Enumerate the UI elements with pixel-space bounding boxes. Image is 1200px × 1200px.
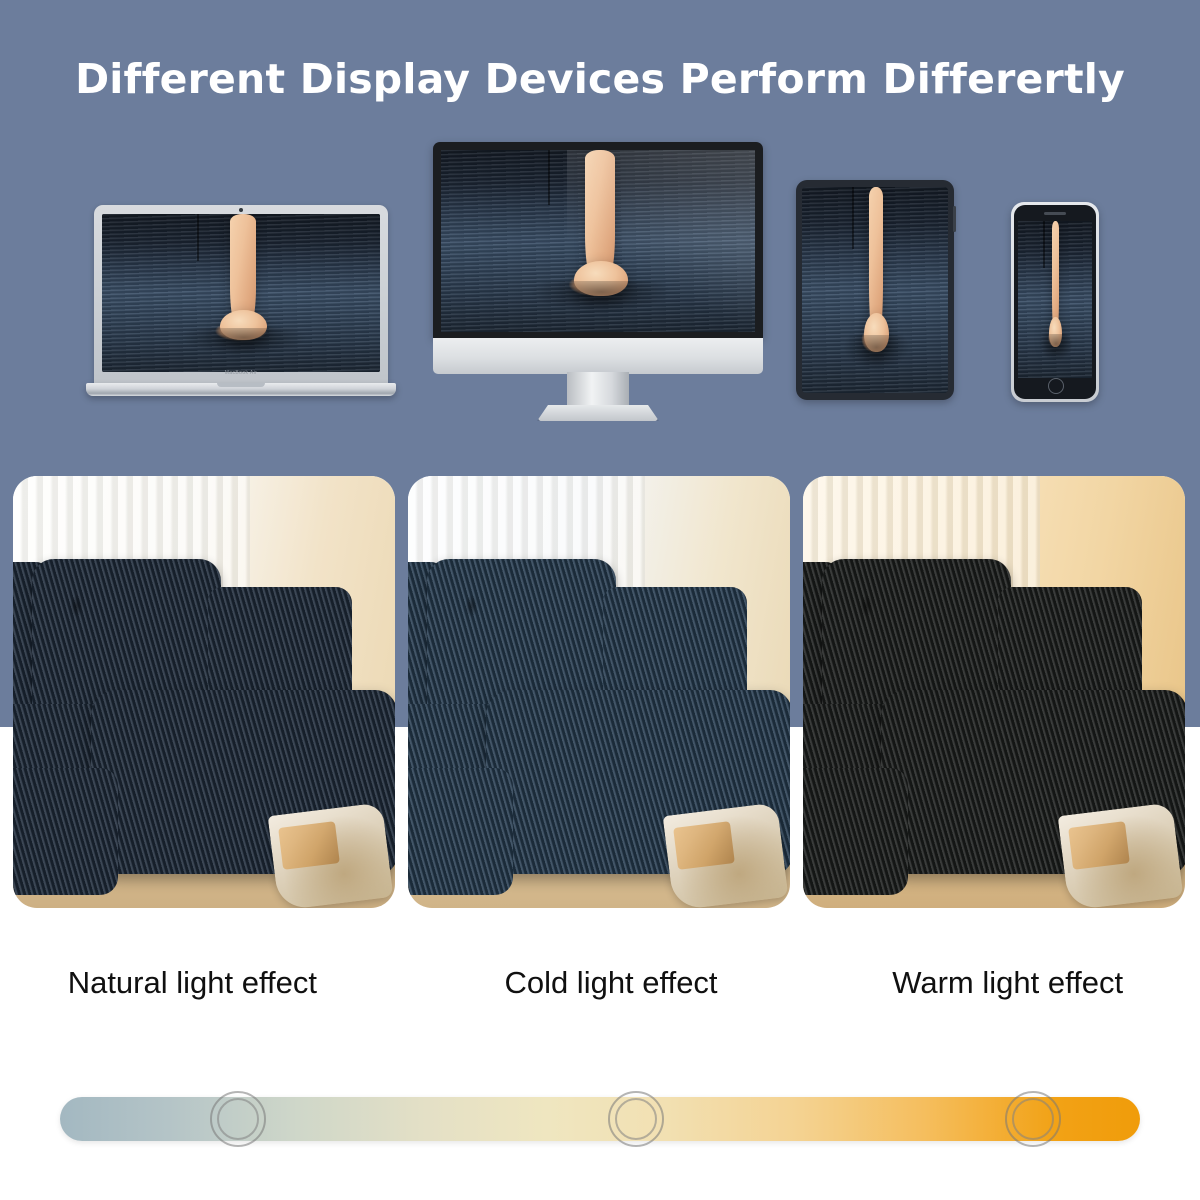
cushion-seam bbox=[197, 214, 199, 261]
device-desktop-monitor bbox=[433, 142, 763, 417]
tablet-body bbox=[796, 180, 954, 400]
comparison-card-warm bbox=[803, 476, 1185, 908]
sofa-tuft bbox=[70, 595, 83, 617]
laptop-notch bbox=[217, 383, 265, 387]
comparison-card-natural bbox=[13, 476, 395, 908]
comparison-card-cold bbox=[408, 476, 790, 908]
sofa-ottoman bbox=[803, 768, 908, 896]
slider-marker-warm[interactable] bbox=[1005, 1091, 1061, 1147]
magazine bbox=[1057, 802, 1182, 908]
product-photo-monitor bbox=[441, 150, 755, 332]
monitor-bezel bbox=[433, 142, 763, 338]
device-laptop: MacBook Air bbox=[86, 205, 396, 405]
color-temperature-slider[interactable] bbox=[60, 1088, 1140, 1150]
phone-frame bbox=[1014, 205, 1096, 399]
cushion-dimple bbox=[843, 335, 910, 370]
phone-body bbox=[1011, 202, 1099, 402]
cushion-seam bbox=[1043, 221, 1045, 268]
laptop-screen bbox=[102, 214, 380, 372]
monitor-stand-foot bbox=[537, 405, 659, 421]
cushion-dimple bbox=[180, 328, 308, 355]
sofa-ottoman bbox=[408, 768, 513, 896]
monitor-chin bbox=[433, 338, 763, 374]
monitor-stand-neck bbox=[567, 372, 629, 408]
laptop-brand-label: MacBook Air bbox=[86, 370, 396, 376]
slider-marker-cool[interactable] bbox=[210, 1091, 266, 1147]
cushion-seam bbox=[852, 187, 854, 249]
cushion-dimple bbox=[1039, 334, 1073, 361]
tablet-screen bbox=[802, 187, 948, 393]
slider-marker-neutral[interactable] bbox=[608, 1091, 664, 1147]
phone-screen bbox=[1018, 221, 1092, 378]
monitor-screen bbox=[441, 150, 755, 332]
laptop-lid bbox=[94, 205, 388, 386]
cushion-seam bbox=[548, 150, 550, 205]
label-warm-light: Warm light effect bbox=[809, 965, 1200, 1035]
sofa-tuft bbox=[860, 595, 873, 617]
device-phone bbox=[1011, 202, 1099, 402]
magazine bbox=[267, 802, 392, 908]
sofa-scene-natural bbox=[13, 476, 395, 908]
laptop-camera-icon bbox=[239, 208, 243, 212]
product-photo-phone bbox=[1018, 221, 1092, 378]
sofa-scene-warm bbox=[803, 476, 1185, 908]
light-effect-comparison bbox=[13, 476, 1187, 908]
phone-home-button-icon bbox=[1048, 378, 1064, 394]
tablet-side-button bbox=[953, 206, 956, 232]
product-photo-tablet bbox=[802, 187, 948, 393]
sofa-tuft bbox=[465, 595, 478, 617]
page-title: Different Display Devices Perform Differ… bbox=[0, 55, 1200, 103]
label-natural-light: Natural light effect bbox=[0, 965, 419, 1035]
cushion-dimple bbox=[529, 281, 673, 312]
sofa-ottoman bbox=[13, 768, 118, 896]
phone-speaker-icon bbox=[1044, 212, 1066, 215]
comparison-labels: Natural light effect Cold light effect W… bbox=[0, 965, 1200, 1035]
label-cold-light: Cold light effect bbox=[419, 965, 810, 1035]
display-device-mockups: MacBook Air bbox=[0, 130, 1200, 420]
device-tablet bbox=[796, 180, 954, 400]
product-photo-laptop bbox=[102, 214, 380, 372]
sofa-scene-cold bbox=[408, 476, 790, 908]
magazine bbox=[662, 802, 787, 908]
